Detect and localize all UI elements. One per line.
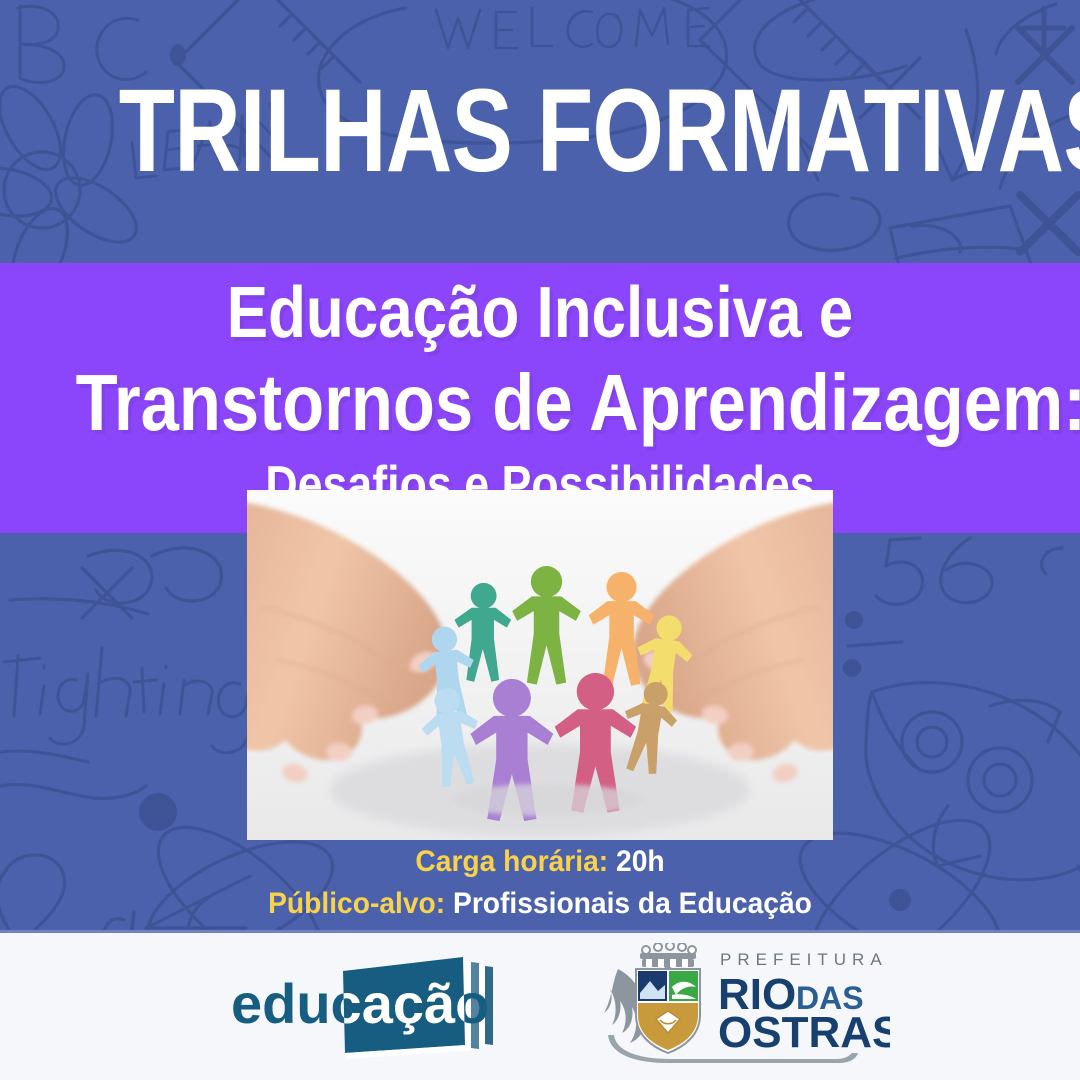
dot-doodle-4 bbox=[843, 659, 861, 677]
educacao-logo: educação educação bbox=[225, 951, 515, 1066]
curve-doodle-2 bbox=[996, 4, 1056, 54]
logo-crown bbox=[640, 943, 696, 967]
workload-label: Carga horária: bbox=[415, 845, 608, 878]
course-photo bbox=[247, 490, 833, 840]
dot-doodle-3 bbox=[845, 611, 863, 629]
fighting-word-doodle bbox=[4, 648, 252, 753]
dot-doodle bbox=[170, 44, 186, 66]
page-title: TRILHAS FORMATIVAS bbox=[119, 72, 961, 190]
footer-logo-bar: educação educação bbox=[0, 930, 1080, 1080]
number-6-doodle bbox=[941, 538, 992, 603]
workload-line: Carga horária: 20h bbox=[32, 843, 1047, 881]
logo-shield bbox=[636, 969, 700, 1053]
wave-doodle bbox=[0, 751, 88, 762]
audience-label: Público-alvo: bbox=[268, 887, 445, 920]
x-mark-doodle-3 bbox=[1020, 195, 1078, 252]
curve-doodle-5 bbox=[1042, 548, 1062, 574]
audience-value: Profissionais da Educação bbox=[453, 887, 812, 920]
poster-canvas: TRILHAS FORMATIVAS Educação Inclusiva e … bbox=[0, 0, 1080, 1080]
plus-doodle bbox=[1024, 8, 1064, 50]
line-doodle bbox=[10, 599, 148, 614]
dot-doodle-2 bbox=[139, 793, 177, 831]
cloud-scribble-doodle bbox=[88, 550, 152, 603]
logo-ostras-text: OSTRAS bbox=[718, 1008, 890, 1057]
paper-people-in-hands-illustration bbox=[247, 490, 833, 840]
dash-doodle bbox=[848, 642, 902, 646]
wave-doodle-2 bbox=[0, 785, 146, 799]
cloud-scribble-doodle-2 bbox=[152, 548, 222, 601]
x-mark-doodle-4 bbox=[82, 568, 132, 618]
welcome-word-doodle bbox=[436, 8, 709, 48]
letter-b-doodle bbox=[18, 6, 64, 83]
subtitle-line-2: Transtornos de Aprendizagem: bbox=[76, 363, 1005, 443]
scribble-doodle bbox=[789, 194, 880, 250]
paper-line-doodle bbox=[896, 247, 1026, 258]
course-info: Carga horária: 20h Público-alvo: Profiss… bbox=[0, 843, 1080, 922]
logo-prefeitura-text: PREFEITURA bbox=[720, 950, 888, 969]
number-5-doodle bbox=[876, 538, 922, 604]
subtitle-line-1: Educação Inclusiva e bbox=[76, 277, 1005, 349]
workload-value: 20h bbox=[616, 845, 665, 878]
scribble-doodle-2 bbox=[912, 225, 960, 252]
prefeitura-rio-das-ostras-logo: PREFEITURA RIO DAS OSTRAS bbox=[600, 943, 890, 1073]
audience-line: Público-alvo: Profissionais da Educação bbox=[32, 885, 1047, 923]
